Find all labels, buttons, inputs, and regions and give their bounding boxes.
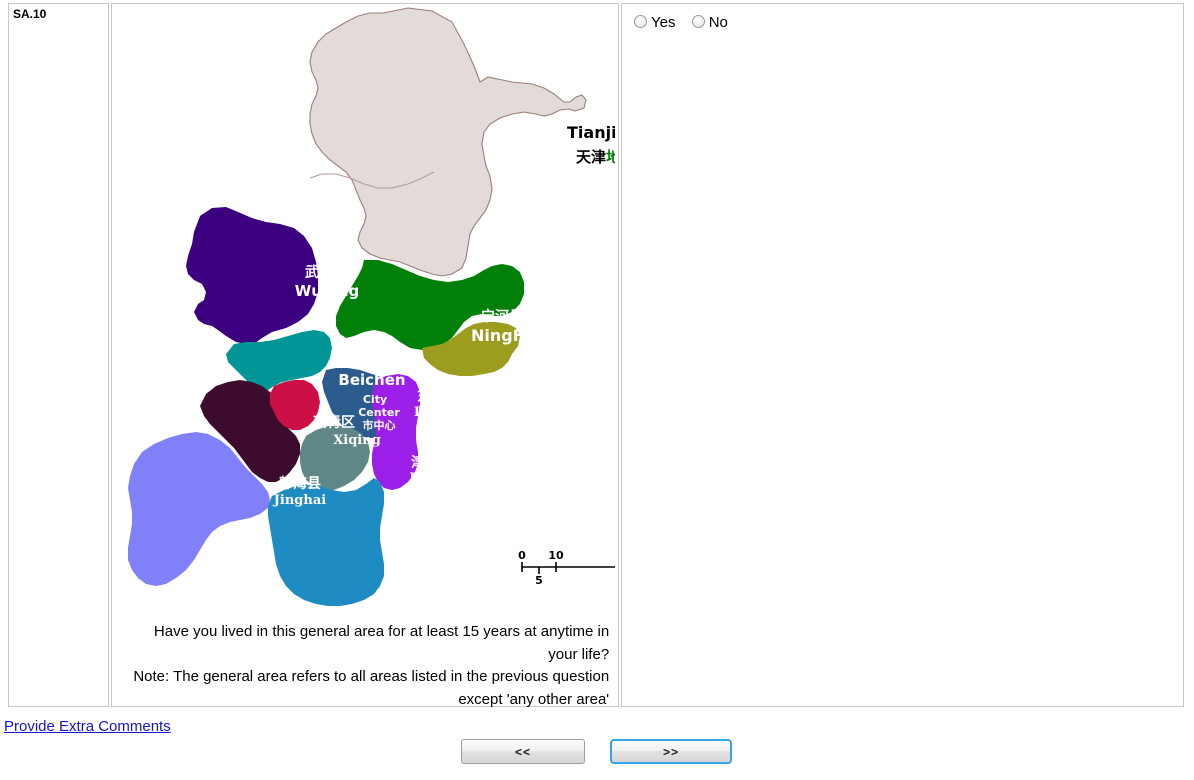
radio-option-yes[interactable]: Yes bbox=[634, 14, 675, 31]
answer-cell: Yes No bbox=[621, 3, 1184, 707]
map-label-wuqing-en: Wuqing bbox=[295, 282, 360, 300]
radio-no-icon[interactable] bbox=[692, 15, 705, 28]
map-label-tanggu-en: Tanggu bbox=[483, 436, 537, 451]
map-label-wuqing-cn: 武清县 bbox=[305, 264, 347, 281]
map-label-dagang-en: Dagang bbox=[387, 554, 447, 570]
map-label-citycenter-en1: City bbox=[363, 393, 387, 406]
question-code-cell: SA.10 bbox=[8, 3, 109, 707]
question-text-line-2: Note: The general area refers to all are… bbox=[122, 666, 609, 711]
map-label-ninghe-cn: 宁河县 bbox=[481, 308, 523, 325]
question-text-line-1: Have you lived in this general area for … bbox=[122, 621, 609, 666]
map-label-ninghe-en: NingHe bbox=[471, 326, 537, 345]
navigation-bar: << >> bbox=[0, 739, 1194, 767]
map-region-wuqing bbox=[186, 207, 318, 344]
tianjin-map: 武清县 Wuqing 宁河县 NingHe 北辰区 Beichen 汉沽区 Ha… bbox=[112, 4, 615, 619]
provide-extra-comments-link[interactable]: Provide Extra Comments bbox=[4, 718, 171, 735]
map-label-jinghai-cn: 静海县 bbox=[279, 475, 321, 492]
question-body-cell: 武清县 Wuqing 宁河县 NingHe 北辰区 Beichen 汉沽区 Ha… bbox=[111, 3, 619, 707]
map-label-dagang-cn: 大港区 bbox=[395, 535, 440, 553]
tianjin-map-svg: 武清县 Wuqing 宁河县 NingHe 北辰区 Beichen 汉沽区 Ha… bbox=[112, 4, 615, 619]
map-scale-tick-10: 10 bbox=[549, 549, 565, 562]
map-label-jinnan-en: Jinnan bbox=[408, 471, 457, 486]
survey-question-table: SA.10 bbox=[6, 1, 1186, 709]
map-label-citycenter-en2: Center bbox=[358, 406, 400, 419]
next-button[interactable]: >> bbox=[610, 739, 732, 764]
map-scale-tick-5: 5 bbox=[535, 574, 543, 587]
radio-option-no-label[interactable]: No bbox=[709, 14, 728, 31]
radio-yes-icon[interactable] bbox=[634, 15, 647, 28]
map-label-beichen-cn: 北辰区 bbox=[348, 352, 390, 368]
map-label-jinghai-en: Jinghai bbox=[273, 493, 327, 508]
radio-option-no[interactable]: No bbox=[692, 14, 728, 31]
question-code: SA.10 bbox=[9, 4, 108, 21]
map-label-tanggu-cn: 塘沽区 bbox=[489, 418, 531, 435]
map-scale-tick-0: 0 bbox=[518, 549, 526, 562]
answer-options: Yes No bbox=[622, 4, 1183, 31]
previous-button[interactable]: << bbox=[461, 739, 585, 764]
map-label-hangu-en: Hangu bbox=[534, 368, 579, 382]
map-title-en: Tianjin Map bbox=[567, 123, 615, 142]
map-region-north-unlabeled bbox=[310, 8, 586, 276]
map-label-dongli-en: Dongli bbox=[414, 405, 462, 420]
map-scale-bar: 0 10 50 5 km bbox=[518, 549, 615, 587]
map-title-cn: 天津地图 bbox=[576, 148, 615, 166]
map-label-xiqing-cn: 西青区 bbox=[313, 414, 355, 431]
map-label-jinnan-cn: 津南区 bbox=[411, 454, 453, 471]
map-label-xiqing-en: Xiqing bbox=[333, 433, 381, 448]
map-label-citycenter-cn: 市中心 bbox=[363, 418, 396, 432]
map-label-beichen-en: Beichen bbox=[339, 371, 406, 389]
radio-option-yes-label[interactable]: Yes bbox=[651, 14, 675, 31]
question-body: 武清县 Wuqing 宁河县 NingHe 北辰区 Beichen 汉沽区 Ha… bbox=[112, 4, 618, 706]
map-label-dongli-cn: 东丽区 bbox=[417, 388, 459, 405]
question-text: Have you lived in this general area for … bbox=[122, 621, 609, 711]
